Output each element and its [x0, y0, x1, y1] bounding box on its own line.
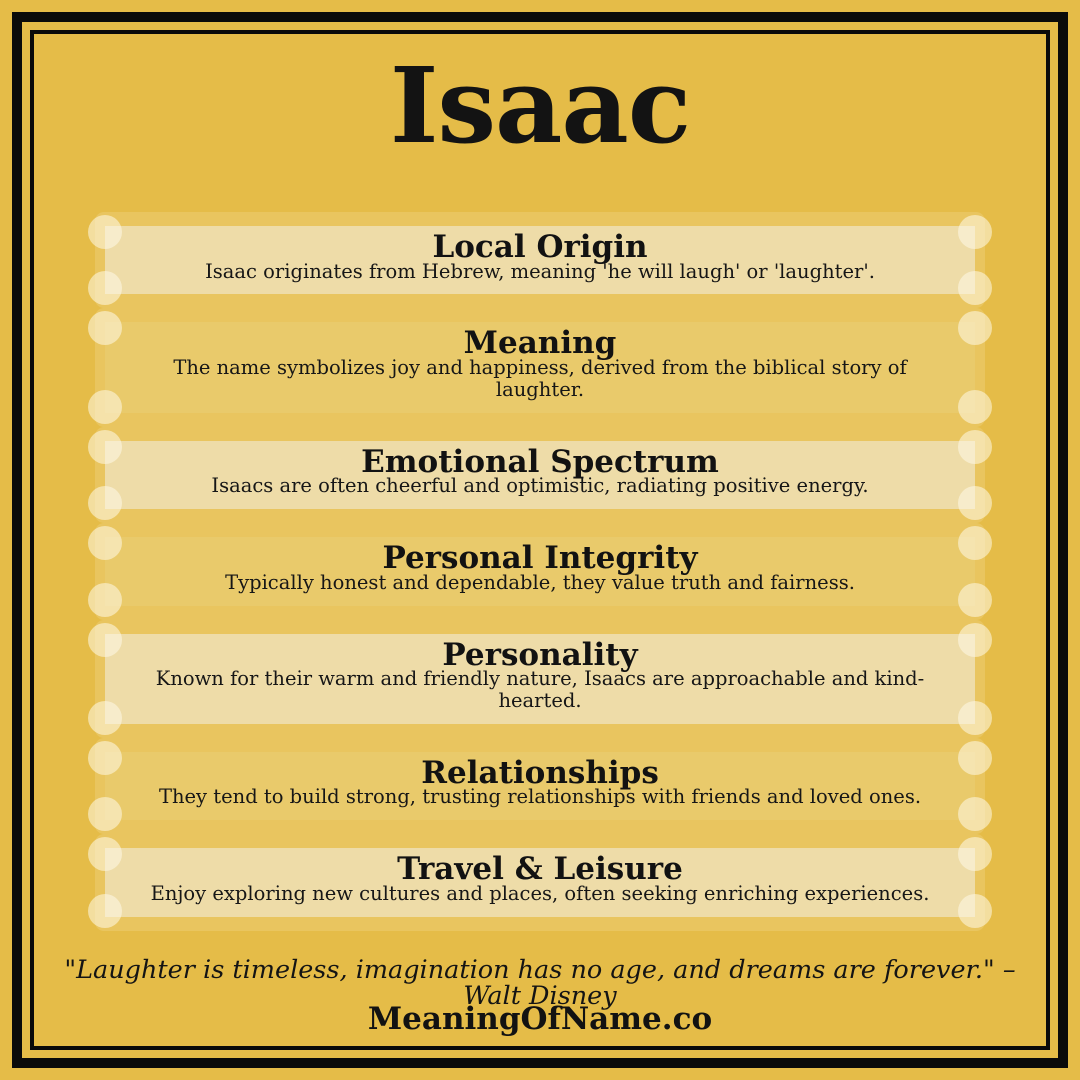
card-plaque: Local OriginIsaac originates from Hebrew… [105, 226, 975, 294]
attribute-card: Local OriginIsaac originates from Hebrew… [95, 212, 985, 308]
card-title: Local Origin [139, 232, 941, 264]
attribute-card: Emotional SpectrumIsaacs are often cheer… [95, 427, 985, 523]
footer-brand: MeaningOfName.co [40, 1004, 1040, 1035]
card-description: Enjoy exploring new cultures and places,… [139, 883, 941, 905]
card-plaque: MeaningThe name symbolizes joy and happi… [105, 322, 975, 412]
card-description: Isaacs are often cheerful and optimistic… [139, 475, 941, 497]
card-description: They tend to build strong, trusting rela… [139, 786, 941, 808]
card-plaque: Emotional SpectrumIsaacs are often cheer… [105, 441, 975, 509]
card-description: Typically honest and dependable, they va… [139, 572, 941, 594]
card-plaque: Personal IntegrityTypically honest and d… [105, 537, 975, 605]
attribute-card-list: Local OriginIsaac originates from Hebrew… [40, 212, 1040, 931]
card-plaque: Travel & LeisureEnjoy exploring new cult… [105, 848, 975, 916]
attribute-card: Travel & LeisureEnjoy exploring new cult… [95, 834, 985, 930]
poster-content: Isaac Local OriginIsaac originates from … [40, 40, 1040, 1040]
page-title: Isaac [40, 54, 1040, 164]
attribute-card: RelationshipsThey tend to build strong, … [95, 738, 985, 834]
card-description: The name symbolizes joy and happiness, d… [139, 357, 941, 401]
footer: "Laughter is timeless, imagination has n… [40, 957, 1040, 1036]
card-plaque: PersonalityKnown for their warm and frie… [105, 634, 975, 724]
card-description: Known for their warm and friendly nature… [139, 668, 941, 712]
attribute-card: Personal IntegrityTypically honest and d… [95, 523, 985, 619]
attribute-card: PersonalityKnown for their warm and frie… [95, 620, 985, 738]
card-title: Personal Integrity [139, 543, 941, 575]
card-plaque: RelationshipsThey tend to build strong, … [105, 752, 975, 820]
card-description: Isaac originates from Hebrew, meaning 'h… [139, 261, 941, 283]
attribute-card: MeaningThe name symbolizes joy and happi… [95, 308, 985, 426]
